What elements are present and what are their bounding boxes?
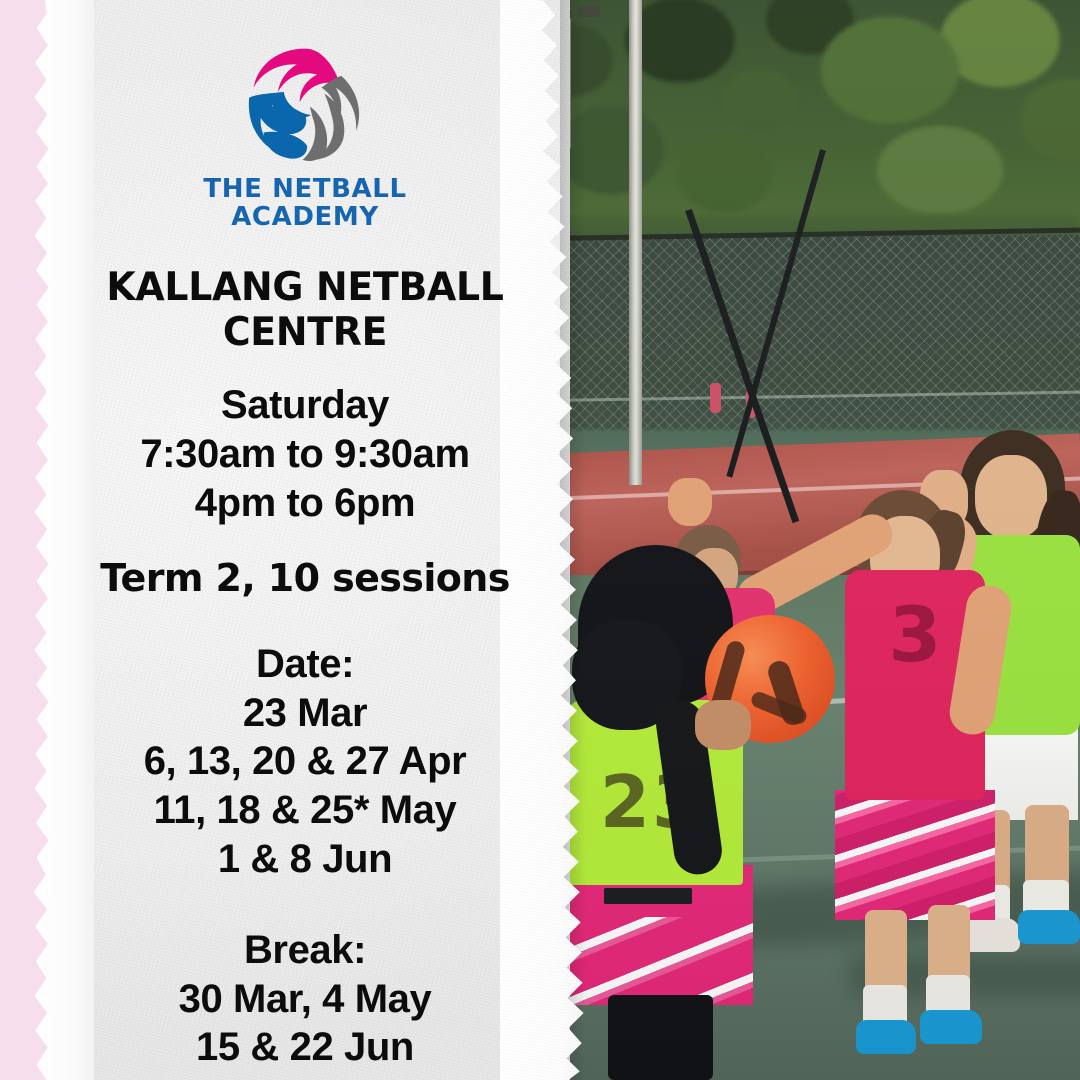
schedule-time-afternoon: 4pm to 6pm bbox=[60, 479, 550, 528]
schedule-time-morning: 7:30am to 9:30am bbox=[60, 430, 550, 479]
tree-canopy bbox=[520, 0, 1080, 250]
player-hand-on-ball bbox=[695, 700, 751, 750]
player-shoe bbox=[920, 1010, 982, 1044]
term-block: Term 2, 10 sessions bbox=[60, 555, 550, 601]
brand-logo: THE NETBALL ACADEMY bbox=[60, 0, 550, 231]
netball-photo: 3 23 bbox=[520, 0, 1080, 1080]
date-line-1: 23 Mar bbox=[60, 689, 550, 738]
venue-title: KALLANG NETBALL CENTRE bbox=[67, 265, 542, 355]
brand-name-line2: ACADEMY bbox=[60, 204, 550, 232]
poster-content: THE NETBALL ACADEMY KALLANG NETBALL CENT… bbox=[60, 0, 550, 1080]
date-block: Date: 23 Mar 6, 13, 20 & 27 Apr 11, 18 &… bbox=[60, 640, 550, 884]
player-pink-bib-skirt bbox=[835, 790, 995, 920]
break-block: Break: 30 Mar, 4 May 15 & 22 Jun bbox=[60, 926, 550, 1072]
netball-ball-logo-icon bbox=[233, 40, 378, 170]
floodlight-lamp bbox=[578, 6, 600, 17]
floodlight-pole bbox=[629, 0, 642, 485]
poster-canvas: 3 23 bbox=[0, 0, 1080, 1080]
player-shoe bbox=[1018, 910, 1080, 944]
schedule-day: Saturday bbox=[60, 381, 550, 430]
date-heading: Date: bbox=[60, 640, 550, 689]
break-heading: Break: bbox=[60, 926, 550, 975]
brand-wordmark: THE NETBALL ACADEMY bbox=[60, 176, 550, 231]
player-foreground-leggings bbox=[608, 995, 713, 1080]
distant-player bbox=[710, 383, 721, 413]
date-line-3: 11, 18 & 25* May bbox=[60, 786, 550, 835]
brand-name-line1: THE NETBALL bbox=[60, 176, 550, 204]
player-shoe bbox=[856, 1020, 916, 1054]
break-line-2: 15 & 22 Jun bbox=[60, 1023, 550, 1072]
player-green-bib-face bbox=[975, 455, 1047, 539]
player-belt bbox=[604, 888, 692, 904]
player-hand bbox=[668, 478, 712, 526]
date-line-4: 1 & 8 Jun bbox=[60, 835, 550, 884]
schedule-block: Saturday 7:30am to 9:30am 4pm to 6pm bbox=[60, 381, 550, 527]
break-line-1: 30 Mar, 4 May bbox=[60, 975, 550, 1024]
term-label: Term 2, 10 sessions bbox=[60, 555, 550, 601]
date-line-2: 6, 13, 20 & 27 Apr bbox=[60, 737, 550, 786]
